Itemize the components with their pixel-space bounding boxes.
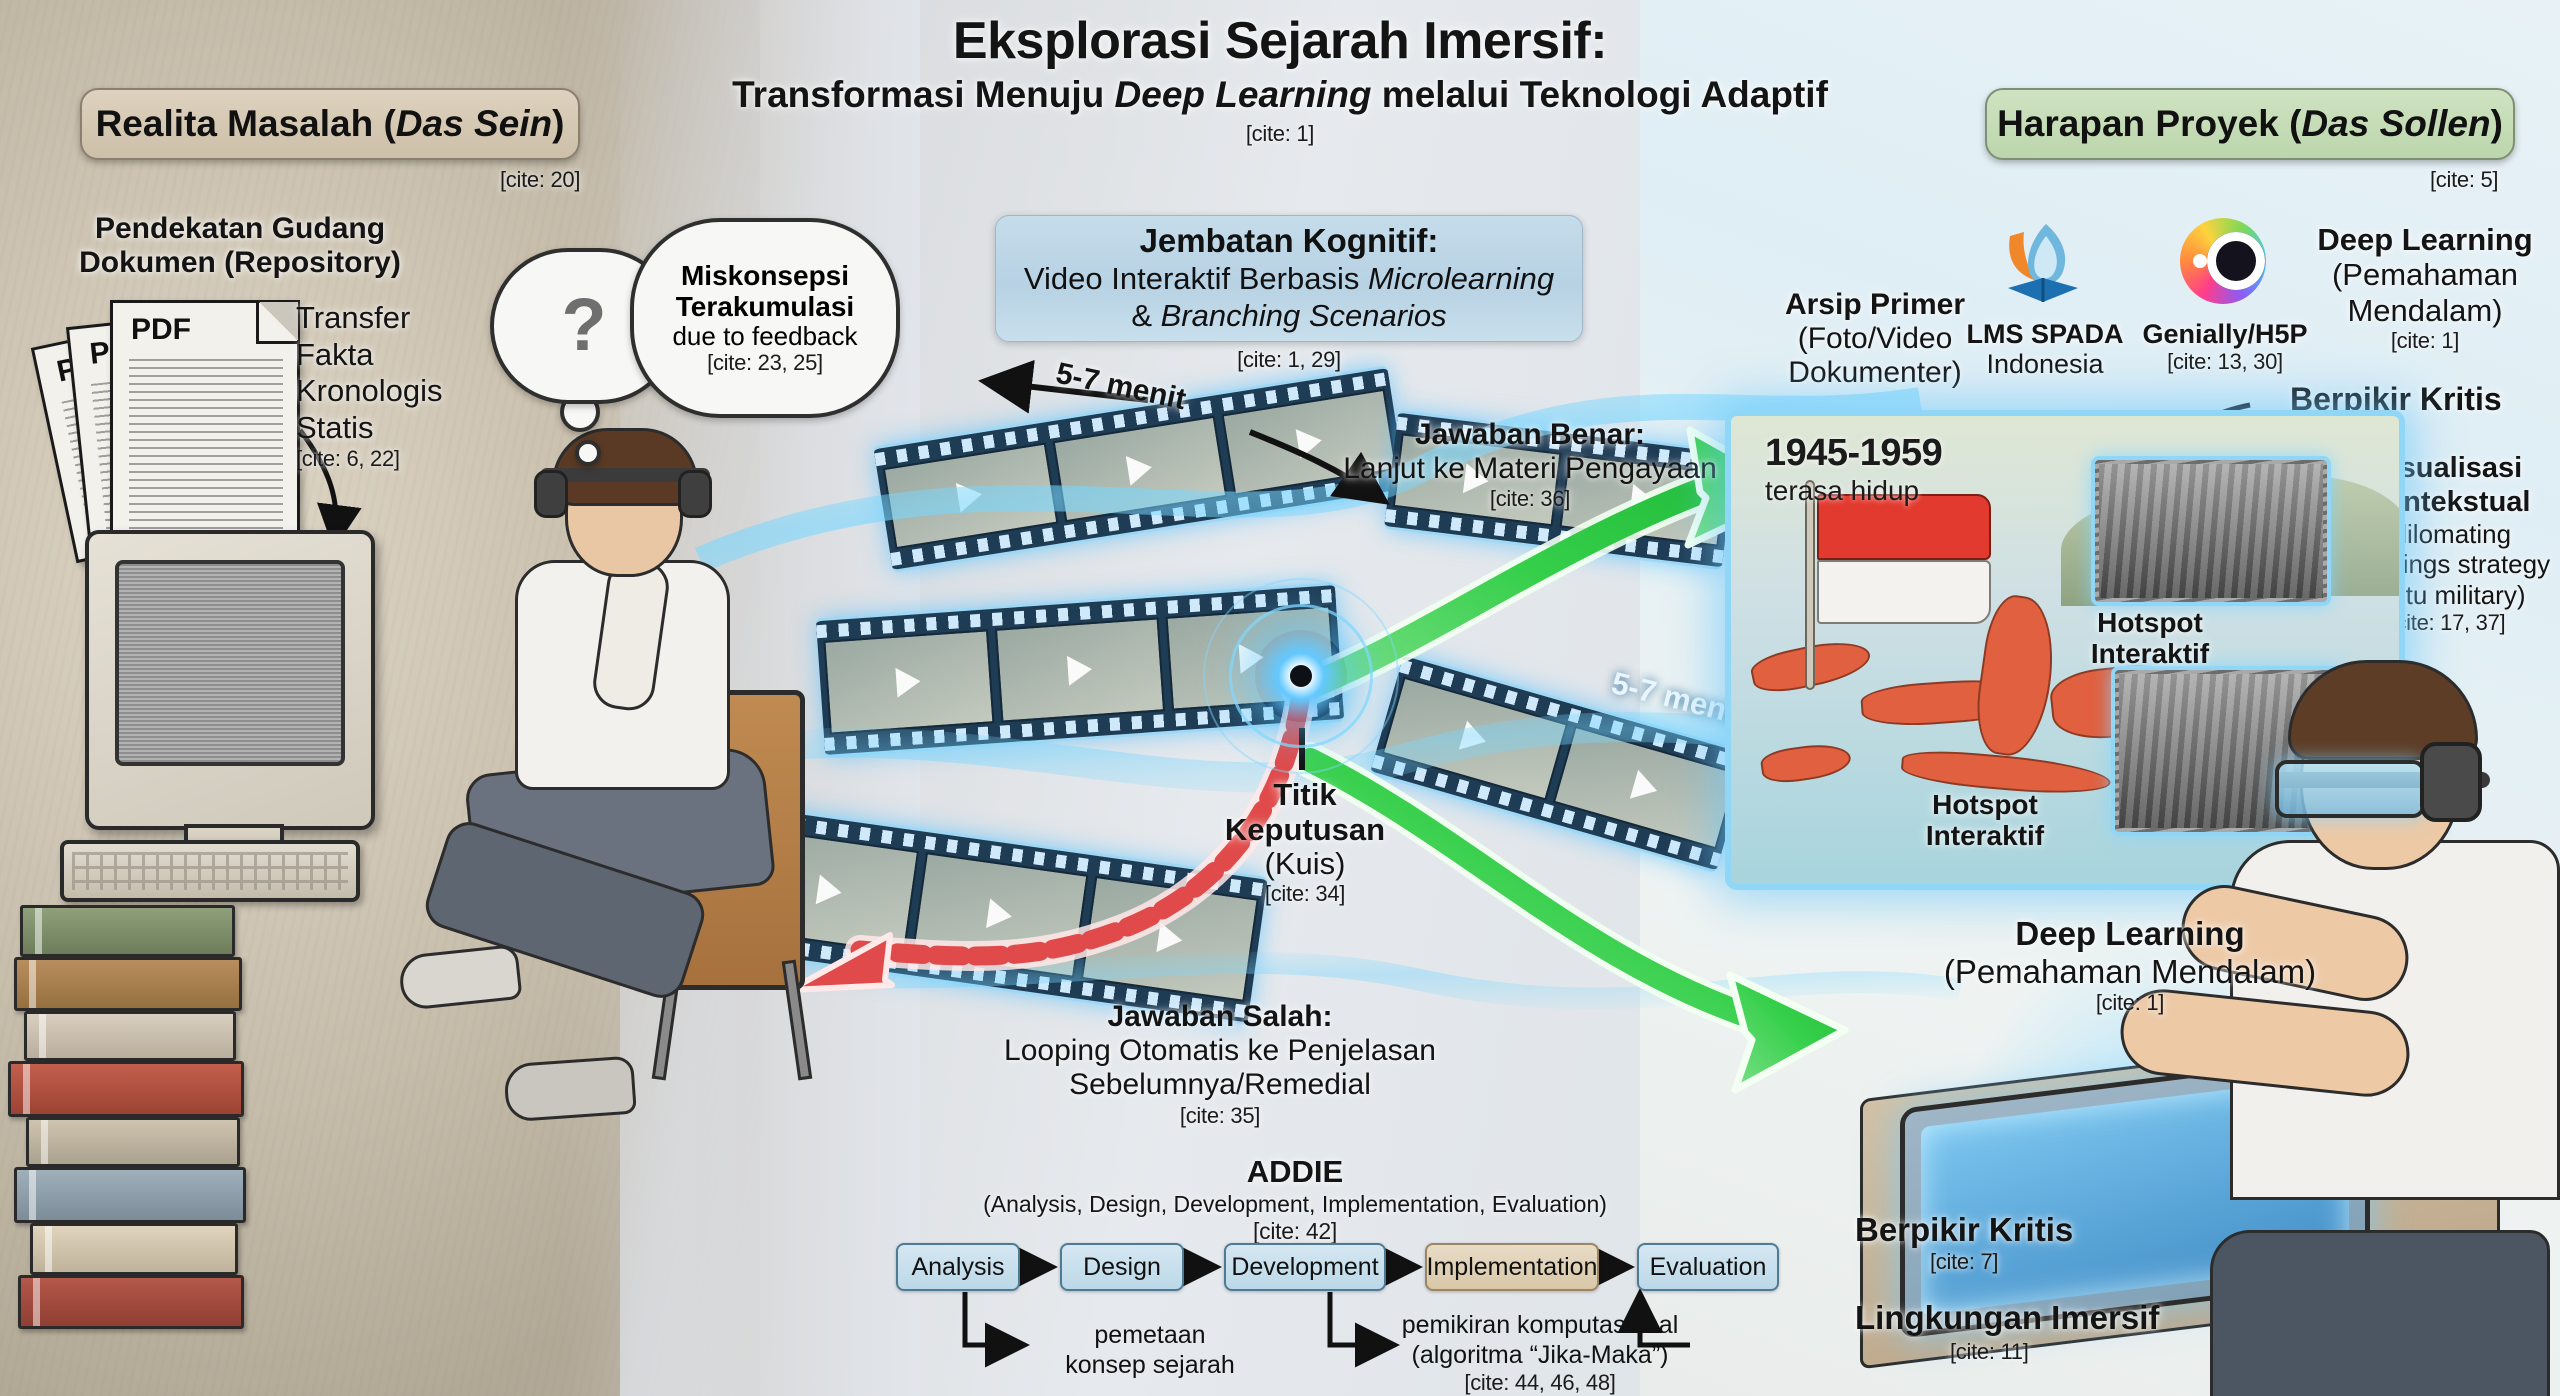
lms-spada-line-1: LMS SPADA [1963,320,2127,350]
banner-das-sollen: Harapan Proyek (Das Sollen) [1985,88,2515,160]
berpikir-kritis-bottom-cite: [cite: 7] [1930,1250,1998,1275]
deep-learning-bottom-label: Deep Learning (Pemahaman Mendalam) [cite… [1900,915,2360,1015]
decision-line-2: Keputusan [1200,813,1410,848]
pdf-page-fold [256,302,298,344]
addie-subtitle: (Analysis, Design, Development, Implemen… [880,1192,1710,1218]
banner-das-sollen-close: ) [2491,103,2503,145]
infographic-canvas: Eksplorasi Sejarah Imersif: Transformasi… [0,0,2560,1396]
bridge-kognitif-box: Jembatan Kognitif: Video Interaktif Berb… [995,215,1583,342]
book-stack-item [20,905,235,957]
transfer-line-4: Statis [296,410,442,447]
deep-top-line-3: Mendalam) [2300,293,2550,328]
title-line-1: Eksplorasi Sejarah Imersif: [580,12,1980,70]
deep-top-line-2: (Pemahaman [2300,257,2550,292]
lingkungan-imersif-cite: [cite: 11] [1950,1340,2029,1365]
bridge-title: Jembatan Kognitif: [1140,222,1439,261]
addie-diagram: ADDIE (Analysis, Design, Development, Im… [880,1155,1710,1245]
banner-das-sollen-prefix: Harapan Proyek ( [1997,103,2301,145]
arsip-line-1: Arsip Primer [1750,288,2000,322]
addie-note-left: pemetaan konsep sejarah [1020,1320,1280,1380]
correct-cite: [cite: 36] [1330,486,1730,511]
addie-note-left-line-1: pemetaan [1020,1320,1280,1350]
headphones-earcup-icon [678,470,712,518]
flag-white-band [1817,560,1991,624]
misconception-line-3: due to feedback [672,322,857,351]
film-frame [995,617,1166,722]
correct-line-2: Lanjut ke Materi Pengayaan [1330,452,1730,486]
lms-spada-label: LMS SPADA Indonesia [1963,320,2127,379]
film-frame [1052,416,1227,523]
node-core [1290,665,1312,687]
addie-note-right-cite: [cite: 44, 46, 48] [1390,1370,1690,1396]
film-frame [883,442,1058,549]
deep-top-cite: [cite: 1] [2300,328,2550,353]
decision-cite: [cite: 34] [1200,882,1410,907]
hotspot-label-bottom: Hotspot Interaktif [1885,790,2085,852]
banner-das-sein-italic: Das Sein [396,103,552,145]
hotspot-bottom-line-1: Hotspot [1885,790,2085,821]
bridge-line-2-italic: Microlearning [1368,261,1554,296]
wrong-line-3: Sebelumnya/Remedial [990,1068,1450,1102]
decision-line-3: (Kuis) [1200,847,1410,882]
title-line-2-suffix: melalui Teknologi Adaptif [1372,74,1828,115]
bridge-line-2-prefix: Video Interaktif Berbasis [1024,261,1368,296]
repository-heading-line-2: Dokumen (Repository) [60,246,420,280]
thought-bubble-misconception: Miskonsepsi Terakumulasi due to feedback… [630,218,900,418]
flag-pole [1805,480,1815,690]
question-mark-icon: ? [561,282,606,367]
addie-note-right: pemikiran komputasional (algoritma “Jika… [1390,1310,1690,1396]
correct-answer-label: Jawaban Benar: Lanjut ke Materi Pengayaa… [1330,418,1730,511]
transfer-line-2: Fakta [296,337,442,374]
banner-das-sein-prefix: Realita Masalah ( [96,103,396,145]
misconception-line-1: Miskonsepsi [681,261,849,292]
book-stack-item [26,1117,240,1167]
deep-learning-top-label: Deep Learning (Pemahaman Mendalam) [cite… [2300,222,2550,353]
banner-das-sein-cite: [cite: 20] [500,168,580,193]
genially-name: Genially/H5P [2135,320,2315,350]
bridge-line-3: & Branching Scenarios [1131,298,1446,335]
banner-das-sollen-cite: [cite: 5] [2430,168,2498,193]
deep-top-line-1: Deep Learning [2300,222,2550,257]
crt-static-screen [115,560,345,766]
misconception-line-2: Terakumulasi [676,292,854,323]
student-hair [552,428,698,506]
archive-photo-image [2099,464,2323,598]
archive-photo-inset-top[interactable] [2091,456,2331,606]
addie-step-design[interactable]: Design [1060,1243,1184,1291]
screen-year-value: 1945-1959 [1765,432,1942,475]
lms-spada-logo-icon [2000,218,2086,310]
genially-logo-icon [2180,218,2266,304]
island-shape [1759,740,1853,786]
addie-note-right-line-1: pemikiran komputasional [1390,1310,1690,1340]
headphones-earcup-icon [534,470,568,518]
addie-note-left-line-2: konsep sejarah [1020,1350,1280,1380]
genially-label: Genially/H5P [cite: 13, 30] [2135,320,2315,374]
transfer-line-1: Transfer [296,300,442,337]
film-frame [911,852,1089,978]
student-shoe [503,1056,637,1123]
banner-das-sein-close: ) [552,103,564,145]
film-frame [823,629,994,734]
berpikir-kritis-bottom-label: Berpikir Kritis [1855,1212,2073,1249]
decision-node-glow [1255,630,1347,722]
genially-logo-dot [2193,254,2207,268]
wrong-line-1: Jawaban Salah: [990,1000,1450,1034]
bridge-line-3-prefix: & [1131,298,1160,333]
transfer-fakta-label: Transfer Fakta Kronologis Statis [cite: … [296,300,442,472]
banner-das-sein: Realita Masalah (Das Sein) [80,88,580,160]
wrong-line-2: Looping Otomatis ke Penjelasan [990,1034,1450,1068]
wrong-answer-label: Jawaban Salah: Looping Otomatis ke Penje… [990,1000,1450,1128]
genially-cite: [cite: 13, 30] [2135,350,2315,374]
wrong-cite: [cite: 35] [990,1103,1450,1128]
pdf-body-lines [129,359,283,557]
hotspot-label-top: Hotspot Interaktif [2055,608,2245,670]
decision-point-label: Titik Keputusan (Kuis) [cite: 34] [1200,778,1410,907]
addie-step-implementation[interactable]: Implementation [1425,1243,1599,1291]
vr-goggles-icon [2275,760,2425,818]
book-stack-item [30,1223,238,1275]
title-cite: [cite: 1] [580,122,1980,147]
misconception-cite: [cite: 23, 25] [707,351,823,375]
book-stack-item [18,1275,244,1329]
addie-note-right-line-2: (algoritma “Jika-Maka”) [1390,1340,1690,1370]
book-stack-item [14,957,242,1011]
addie-step-evaluation[interactable]: Evaluation [1637,1243,1779,1291]
repository-heading: Pendekatan Gudang Dokumen (Repository) [60,212,420,279]
deep-bottom-line-1: Deep Learning [1900,915,2360,953]
deep-bottom-line-2: (Pemahaman Mendalam) [1900,953,2360,991]
title-line-2: Transformasi Menuju Deep Learning melalu… [580,74,1980,115]
lingkungan-imersif-label: Lingkungan Imersif [1855,1300,2159,1337]
pdf-label-front: PDF [131,313,191,347]
learner-lap [2210,1230,2550,1396]
page-title: Eksplorasi Sejarah Imersif: Transformasi… [580,12,1980,146]
book-stack-item [14,1167,246,1223]
screen-year-tag: 1945-1959 terasa hidup [1765,432,1942,507]
title-line-2-emphasis: Deep Learning [1115,74,1372,115]
repository-heading-line-1: Pendekatan Gudang [60,212,420,246]
book-stack-item [24,1011,236,1061]
deep-bottom-cite: [cite: 1] [1900,990,2360,1015]
old-crt-monitor [85,530,375,830]
transfer-cite: [cite: 6, 22] [296,446,442,472]
addie-cite: [cite: 42] [880,1219,1710,1245]
vr-earcup-icon [2420,742,2482,822]
title-line-2-prefix: Transformasi Menuju [732,74,1114,115]
lms-spada-line-2: Indonesia [1963,350,2127,380]
bridge-line-2: Video Interaktif Berbasis Microlearning [1024,261,1554,298]
hotspot-bottom-line-2: Interaktif [1885,821,2085,852]
addie-step-analysis[interactable]: Analysis [896,1243,1020,1291]
addie-title: ADDIE [880,1155,1710,1190]
decision-line-1: Titik [1200,778,1410,813]
film-frame [1552,726,1738,850]
screen-year-subtitle: terasa hidup [1765,475,1942,507]
hotspot-top-line-2: Interaktif [2055,639,2245,670]
thought-bubble-small-dot [575,440,601,466]
indonesian-flag-icon [1801,494,1991,634]
transfer-line-3: Kronologis [296,373,442,410]
old-keyboard [60,840,360,902]
correct-line-1: Jawaban Benar: [1330,418,1730,452]
banner-das-sollen-italic: Das Sollen [2301,103,2490,145]
addie-step-development[interactable]: Development [1224,1243,1386,1291]
bridge-line-3-italic: Branching Scenarios [1161,298,1447,333]
book-stack-item [8,1061,244,1117]
hotspot-top-line-1: Hotspot [2055,608,2245,639]
